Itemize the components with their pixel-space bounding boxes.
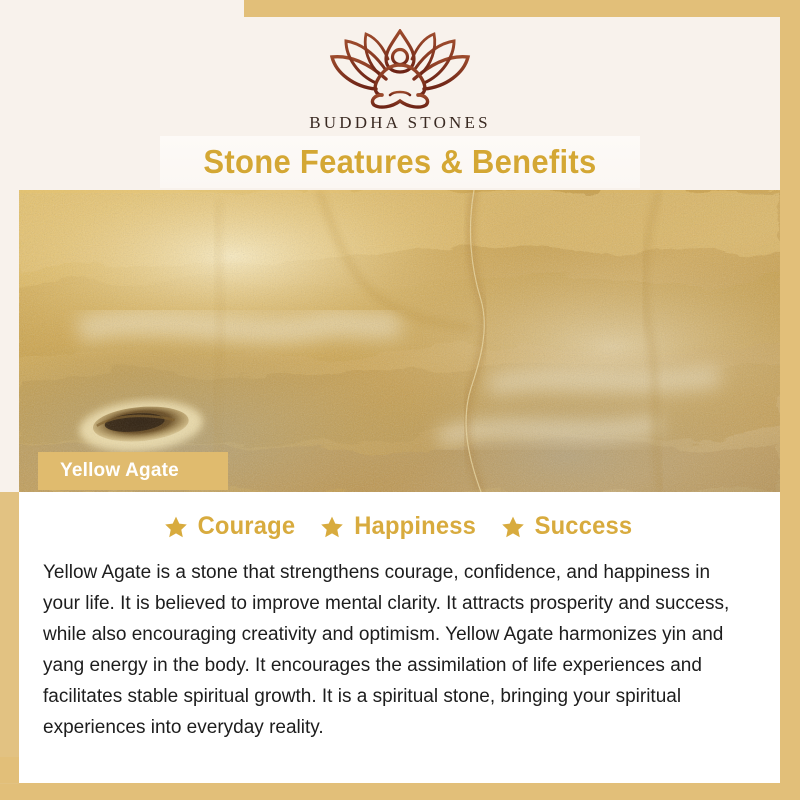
agate-texture-graphic (19, 190, 780, 492)
benefit-label: Happiness (354, 512, 476, 541)
gold-border-left (0, 492, 19, 784)
benefits-list: Courage Happiness Success (19, 492, 780, 541)
benefit-item-success: Success (501, 512, 635, 541)
stone-name-text: Yellow Agate (60, 460, 179, 482)
brand-name: BUDDHA STONES (309, 113, 491, 133)
page-title: Stone Features & Benefits (24, 136, 776, 188)
benefit-item-happiness: Happiness (320, 512, 479, 541)
stone-image (19, 190, 780, 492)
stone-description: Yellow Agate is a stone that strengthens… (43, 557, 735, 743)
star-icon (501, 515, 525, 539)
lotus-meditation-icon (316, 29, 484, 109)
content-panel: Courage Happiness Success Yellow Agate i… (19, 492, 780, 783)
gold-border-right (780, 0, 800, 800)
benefit-item-courage: Courage (164, 512, 298, 541)
gold-border-top (244, 0, 800, 17)
star-icon (164, 515, 188, 539)
benefit-label: Success (535, 512, 633, 541)
star-icon (320, 515, 344, 539)
infographic-page: BUDDHA STONES Stone Features & Benefits (0, 0, 800, 800)
gold-corner-bottom-left (0, 757, 20, 783)
brand-logo: BUDDHA STONES (20, 29, 780, 133)
stone-name-badge: Yellow Agate (38, 452, 228, 490)
benefit-label: Courage (198, 512, 296, 541)
gold-border-bottom (0, 783, 800, 800)
